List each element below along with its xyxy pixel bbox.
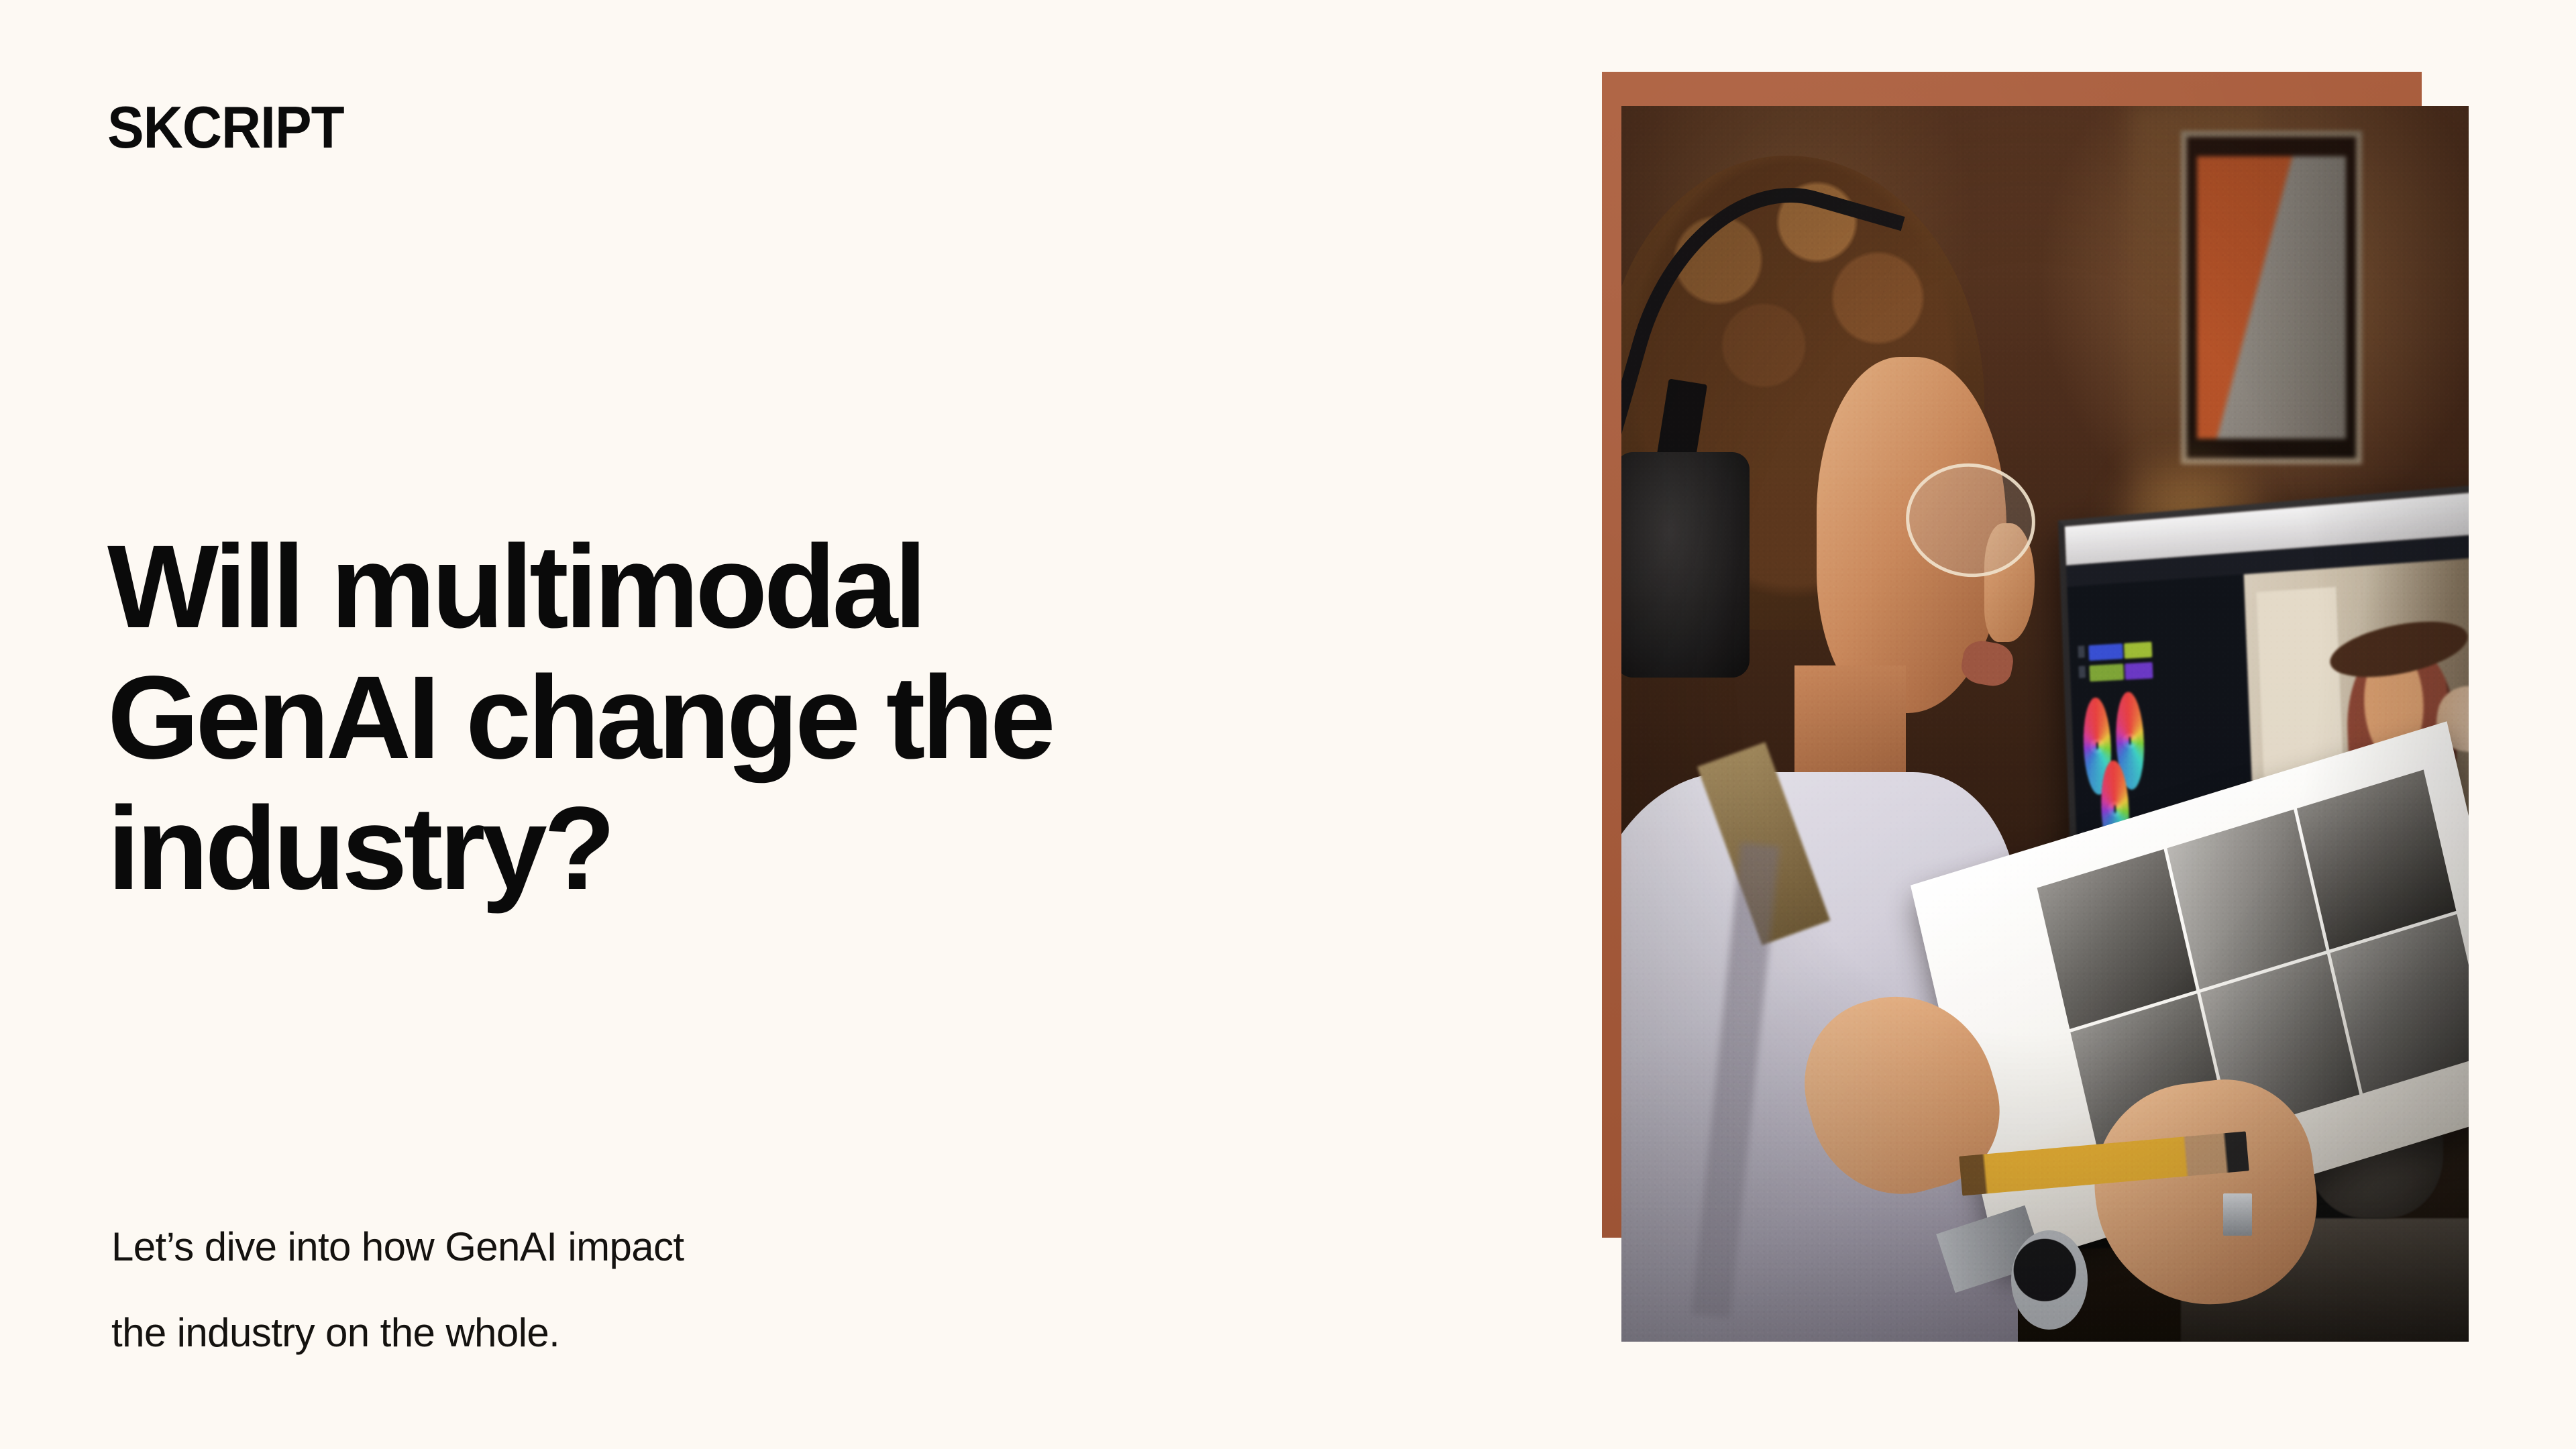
slide-canvas: SKCRIPT Will multimodal GenAI change the… bbox=[0, 0, 2576, 1449]
headphone-earcup bbox=[1621, 452, 1750, 678]
finger-ring bbox=[2223, 1193, 2252, 1236]
hero-photo bbox=[1621, 106, 2469, 1342]
hero-media bbox=[1602, 72, 2474, 1350]
page-subtitle: Let’s dive into how GenAI impact the ind… bbox=[111, 1204, 1185, 1376]
photo-scene bbox=[1621, 106, 2469, 1342]
wristwatch bbox=[2011, 1230, 2088, 1329]
skcript-logo[interactable]: SKCRIPT bbox=[107, 98, 344, 157]
page-title: Will multimodal GenAI change the industr… bbox=[107, 522, 1483, 914]
framed-picture bbox=[2181, 131, 2363, 464]
